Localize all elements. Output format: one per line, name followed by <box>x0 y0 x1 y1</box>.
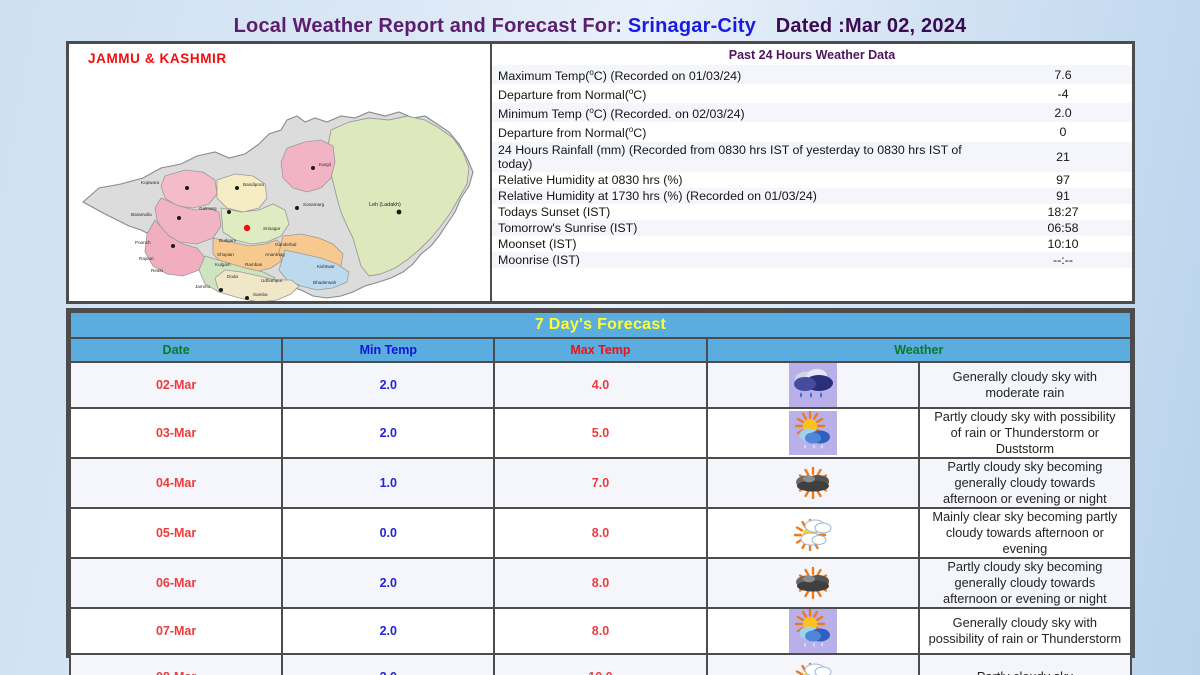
past-24-row: Relative Humidity at 1730 hrs (%) (Recor… <box>492 188 1132 204</box>
forecast-weather-description: Mainly clear sky becoming partly cloudy … <box>919 508 1131 558</box>
past-24-row: Departure from Normal(oC)0 <box>492 122 1132 141</box>
forecast-header-row: Date Min Temp Max Temp Weather <box>70 338 1131 362</box>
forecast-row: 08-Mar2.010.0Partly cloudy sky <box>70 654 1131 675</box>
forecast-icon-box <box>789 511 837 555</box>
past-24-heading: Past 24 Hours Weather Data <box>492 44 1132 65</box>
past-24-label: 24 Hours Rainfall (mm) (Recorded from 08… <box>492 142 994 172</box>
forecast-icon-wrapper <box>708 609 918 653</box>
forecast-icon-box <box>789 411 837 455</box>
forecast-max-temp: 8.0 <box>494 608 706 654</box>
forecast-banner-row: 7 Day's Forecast <box>70 312 1131 338</box>
past-24-value: 06:58 <box>994 220 1132 236</box>
svg-text:Samba: Samba <box>253 292 268 297</box>
forecast-icon-cell <box>707 654 919 675</box>
forecast-weather-description: Partly cloudy sky becoming generally clo… <box>919 458 1131 508</box>
svg-text:Ramban: Ramban <box>245 262 263 267</box>
page-title-city: Srinagar-City <box>628 15 756 37</box>
past-24-label: Departure from Normal(oC) <box>492 122 994 141</box>
forecast-date: 08-Mar <box>70 654 282 675</box>
jammu-kashmir-map: Kupwara Bandipora Kargil Baramulla Gulma… <box>69 60 492 301</box>
svg-text:Bandipora: Bandipora <box>243 182 264 187</box>
forecast-row: 03-Mar2.05.0Partly cloudy sky with possi… <box>70 408 1131 458</box>
page-title: Local Weather Report and Forecast For: S… <box>0 15 1200 38</box>
forecast-banner: 7 Day's Forecast <box>70 312 1131 338</box>
top-panel: JAMMU & KASHMIR <box>66 41 1135 304</box>
forecast-row: 02-Mar2.04.0Generally cloudy sky with mo… <box>70 362 1131 408</box>
forecast-min-temp: 0.0 <box>282 508 494 558</box>
forecast-min-temp: 2.0 <box>282 408 494 458</box>
past-24-label: Departure from Normal(oC) <box>492 84 994 103</box>
svg-text:Poonch: Poonch <box>135 240 151 245</box>
forecast-icon-wrapper <box>708 559 918 607</box>
past-24-label: Relative Humidity at 0830 hrs (%) <box>492 172 994 188</box>
forecast-max-temp: 4.0 <box>494 362 706 408</box>
past-24-row: Todays Sunset (IST)18:27 <box>492 204 1132 220</box>
past-24-row: Moonset (IST)10:10 <box>492 236 1132 252</box>
past-24-label: Todays Sunset (IST) <box>492 204 994 220</box>
forecast-date: 03-Mar <box>70 408 282 458</box>
forecast-weather-description: Partly cloudy sky with possibility of ra… <box>919 408 1131 458</box>
forecast-icon-wrapper <box>708 509 918 557</box>
forecast-date: 02-Mar <box>70 362 282 408</box>
past-24-row: 24 Hours Rainfall (mm) (Recorded from 08… <box>492 142 1132 172</box>
past-24-value: 10:10 <box>994 236 1132 252</box>
column-header-max-temp: Max Temp <box>494 338 706 362</box>
past-24-table: Maximum Temp(oC) (Recorded on 01/03/24)7… <box>492 65 1132 268</box>
svg-text:Leh (Ladakh): Leh (Ladakh) <box>369 202 401 208</box>
svg-text:Ganderbal: Ganderbal <box>275 242 296 247</box>
past-24-label: Relative Humidity at 1730 hrs (%) (Recor… <box>492 188 994 204</box>
svg-text:Reasi: Reasi <box>151 268 163 273</box>
forecast-min-temp: 2.0 <box>282 558 494 608</box>
past-24-value: 0 <box>994 122 1132 141</box>
past-24-label: Moonrise (IST) <box>492 252 994 268</box>
column-header-weather: Weather <box>707 338 1131 362</box>
past-24-row: Maximum Temp(oC) (Recorded on 01/03/24)7… <box>492 65 1132 84</box>
forecast-row: 04-Mar1.07.0Partly cloudy sky becoming g… <box>70 458 1131 508</box>
forecast-icon-cell <box>707 408 919 458</box>
sun-white-cloud-icon <box>789 655 837 675</box>
sun-white-cloud-icon <box>789 511 837 555</box>
forecast-icon-cell <box>707 608 919 654</box>
forecast-icon-wrapper <box>708 409 918 457</box>
svg-text:Gulmarg: Gulmarg <box>199 206 217 211</box>
svg-text:Srinagar: Srinagar <box>263 226 281 231</box>
page-title-main: Local Weather Report and Forecast For: <box>234 15 622 37</box>
past-24-row: Relative Humidity at 0830 hrs (%)97 <box>492 172 1132 188</box>
forecast-icon-box <box>789 655 837 675</box>
past-24-tbody: Maximum Temp(oC) (Recorded on 01/03/24)7… <box>492 65 1132 268</box>
column-header-date: Date <box>70 338 282 362</box>
svg-text:Doda: Doda <box>227 274 238 279</box>
forecast-row: 07-Mar2.08.0Generally cloudy sky with po… <box>70 608 1131 654</box>
forecast-icon-cell <box>707 508 919 558</box>
forecast-date: 04-Mar <box>70 458 282 508</box>
weather-report-page: Local Weather Report and Forecast For: S… <box>0 0 1200 675</box>
svg-text:Sonamarg: Sonamarg <box>303 202 325 207</box>
sun-dark-cloud-icon <box>789 561 837 605</box>
forecast-panel: 7 Day's Forecast Date Min Temp Max Temp … <box>66 308 1135 658</box>
forecast-icon-box <box>789 363 837 407</box>
past-24-label: Tomorrow's Sunrise (IST) <box>492 220 994 236</box>
svg-text:Rajouri: Rajouri <box>139 256 154 261</box>
forecast-icon-wrapper <box>708 363 918 407</box>
past-24-value: 18:27 <box>994 204 1132 220</box>
past-24-row: Tomorrow's Sunrise (IST)06:58 <box>492 220 1132 236</box>
forecast-icon-wrapper <box>708 655 918 675</box>
past-24-label: Maximum Temp(oC) (Recorded on 01/03/24) <box>492 65 994 84</box>
past-24-value: 97 <box>994 172 1132 188</box>
svg-text:Udhampur: Udhampur <box>261 278 283 283</box>
past-24-row: Departure from Normal(oC)-4 <box>492 84 1132 103</box>
forecast-weather-description: Partly cloudy sky <box>919 654 1131 675</box>
forecast-min-temp: 2.0 <box>282 362 494 408</box>
forecast-weather-description: Generally cloudy sky with possibility of… <box>919 608 1131 654</box>
forecast-icon-cell <box>707 558 919 608</box>
past-24-value: 2.0 <box>994 103 1132 122</box>
past-24-row: Moonrise (IST)--:-- <box>492 252 1132 268</box>
forecast-date: 05-Mar <box>70 508 282 558</box>
svg-text:Anantnag: Anantnag <box>265 252 285 257</box>
forecast-icon-box <box>789 609 837 653</box>
past-24-label: Moonset (IST) <box>492 236 994 252</box>
forecast-min-temp: 2.0 <box>282 608 494 654</box>
past-24-row: Minimum Temp (oC) (Recorded. on 02/03/24… <box>492 103 1132 122</box>
page-title-dated: Dated :Mar 02, 2024 <box>776 15 967 37</box>
svg-text:Kupwara: Kupwara <box>141 180 160 185</box>
past-24-value: -4 <box>994 84 1132 103</box>
rain-cloud-icon <box>789 363 837 407</box>
past-24-value: --:-- <box>994 252 1132 268</box>
sun-thunderstorm-icon <box>789 411 837 455</box>
forecast-icon-cell <box>707 458 919 508</box>
svg-text:Shopian: Shopian <box>217 252 234 257</box>
column-header-min-temp: Min Temp <box>282 338 494 362</box>
forecast-date: 06-Mar <box>70 558 282 608</box>
past-24-hours-panel: Past 24 Hours Weather Data Maximum Temp(… <box>492 44 1132 301</box>
past-24-value: 7.6 <box>994 65 1132 84</box>
past-24-value: 91 <box>994 188 1132 204</box>
forecast-weather-description: Generally cloudy sky with moderate rain <box>919 362 1131 408</box>
forecast-max-temp: 7.0 <box>494 458 706 508</box>
forecast-weather-description: Partly cloudy sky becoming generally clo… <box>919 558 1131 608</box>
forecast-min-temp: 1.0 <box>282 458 494 508</box>
forecast-row: 06-Mar2.08.0Partly cloudy sky becoming g… <box>70 558 1131 608</box>
forecast-table: 7 Day's Forecast Date Min Temp Max Temp … <box>69 311 1132 675</box>
forecast-icon-cell <box>707 362 919 408</box>
forecast-min-temp: 2.0 <box>282 654 494 675</box>
past-24-label: Minimum Temp (oC) (Recorded. on 02/03/24… <box>492 103 994 122</box>
svg-text:Jammu: Jammu <box>195 284 211 289</box>
forecast-max-temp: 8.0 <box>494 558 706 608</box>
forecast-date: 07-Mar <box>70 608 282 654</box>
svg-text:Baramulla: Baramulla <box>131 212 152 217</box>
svg-text:Budgam: Budgam <box>219 238 236 243</box>
forecast-row: 05-Mar0.08.0Mainly clear sky becoming pa… <box>70 508 1131 558</box>
svg-text:Kathua: Kathua <box>255 300 270 301</box>
sun-thunderstorm-icon <box>789 609 837 653</box>
sun-dark-cloud-icon <box>789 461 837 505</box>
forecast-max-temp: 5.0 <box>494 408 706 458</box>
forecast-icon-box <box>789 561 837 605</box>
svg-text:Kishtwar: Kishtwar <box>317 264 335 269</box>
svg-text:Kulgam: Kulgam <box>215 262 231 267</box>
forecast-max-temp: 8.0 <box>494 508 706 558</box>
forecast-tbody: 02-Mar2.04.0Generally cloudy sky with mo… <box>70 362 1131 675</box>
forecast-icon-box <box>789 461 837 505</box>
forecast-icon-wrapper <box>708 459 918 507</box>
svg-text:Bhaderwah: Bhaderwah <box>313 280 337 285</box>
forecast-max-temp: 10.0 <box>494 654 706 675</box>
svg-text:Kargil: Kargil <box>319 162 331 167</box>
map-panel: JAMMU & KASHMIR <box>69 44 492 301</box>
past-24-value: 21 <box>994 142 1132 172</box>
